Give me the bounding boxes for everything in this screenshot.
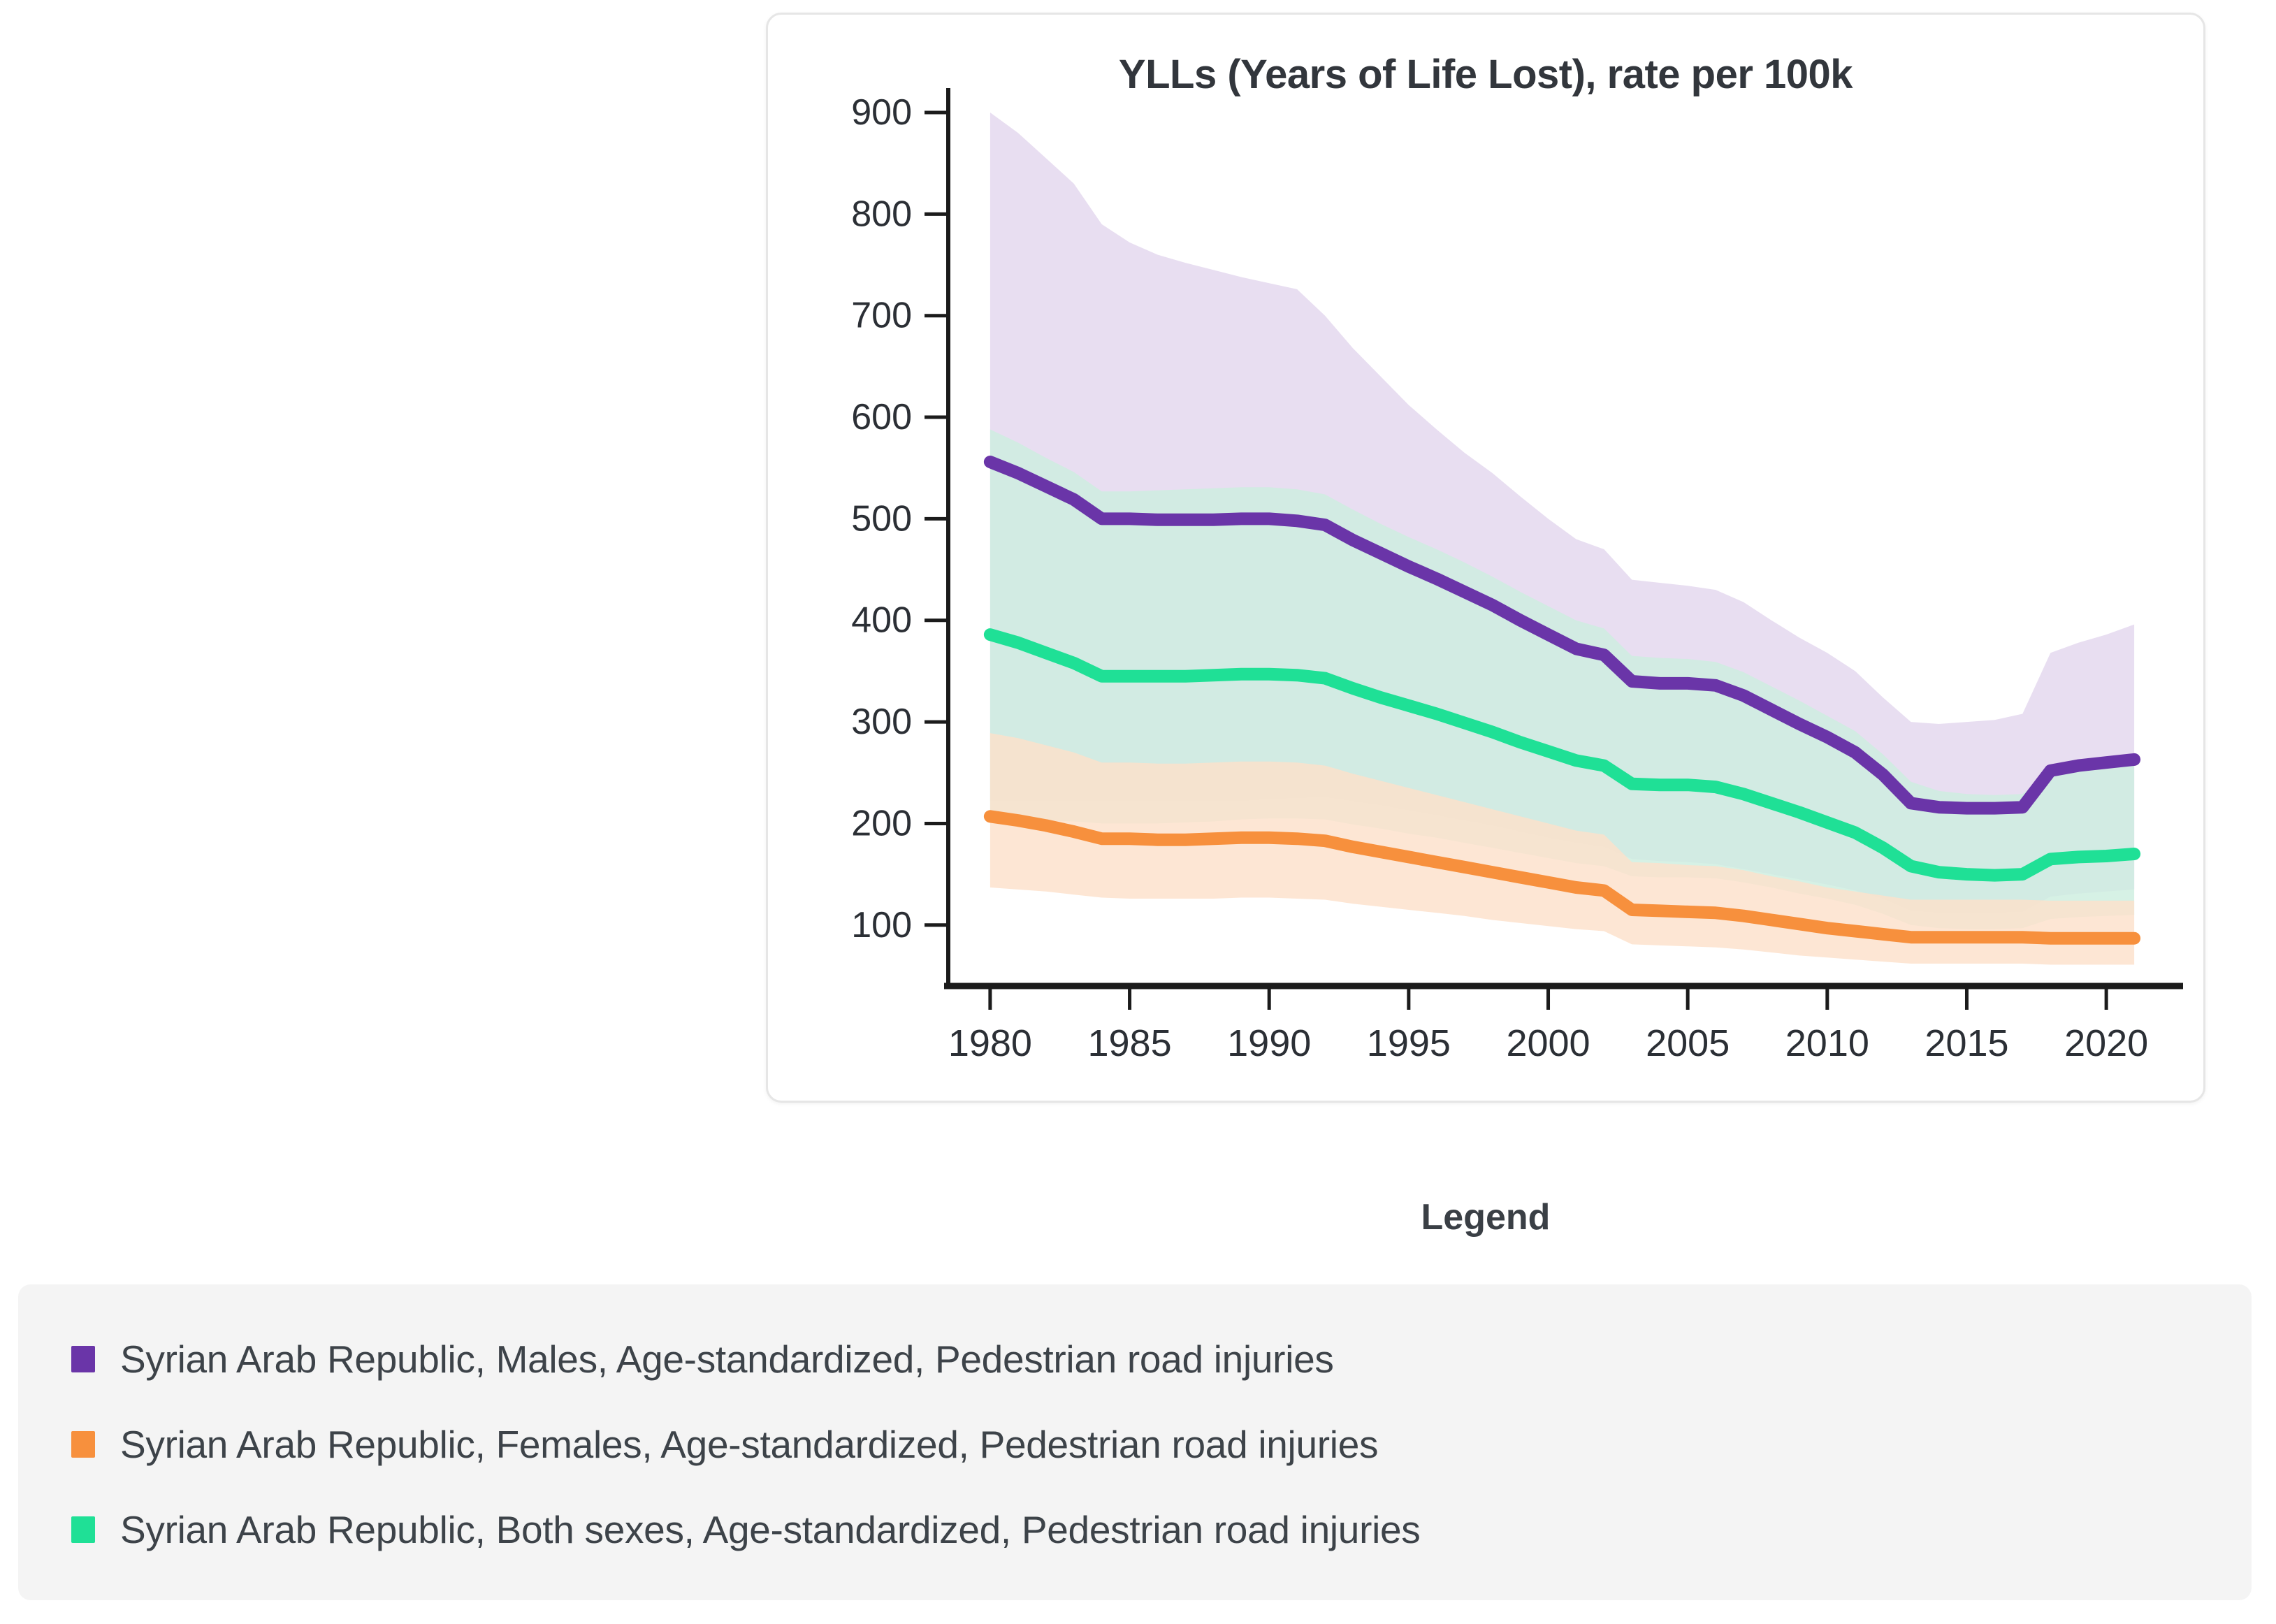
legend-swatch-males-icon: [71, 1346, 95, 1372]
line-chart-svg: 1002003004005006007008009001980198519901…: [768, 15, 2208, 1105]
svg-text:1990: 1990: [1227, 1022, 1311, 1064]
svg-text:500: 500: [851, 498, 912, 539]
legend-label-males: Syrian Arab Republic, Males, Age-standar…: [120, 1337, 1334, 1382]
svg-text:1980: 1980: [948, 1022, 1032, 1064]
legend-item-both-sexes[interactable]: Syrian Arab Republic, Both sexes, Age-st…: [18, 1487, 2252, 1572]
legend-panel: Syrian Arab Republic, Males, Age-standar…: [18, 1284, 2252, 1600]
svg-text:400: 400: [851, 600, 912, 641]
svg-text:2015: 2015: [1925, 1022, 2008, 1064]
legend-item-males[interactable]: Syrian Arab Republic, Males, Age-standar…: [18, 1317, 2252, 1402]
svg-text:200: 200: [851, 803, 912, 843]
svg-text:2005: 2005: [1646, 1022, 1730, 1064]
svg-text:2020: 2020: [2064, 1022, 2148, 1064]
svg-text:700: 700: [851, 296, 912, 336]
legend-label-both-sexes: Syrian Arab Republic, Both sexes, Age-st…: [120, 1507, 1421, 1552]
svg-text:900: 900: [851, 92, 912, 133]
svg-text:300: 300: [851, 702, 912, 742]
legend-item-females[interactable]: Syrian Arab Republic, Females, Age-stand…: [18, 1402, 2252, 1487]
svg-text:2000: 2000: [1506, 1022, 1590, 1064]
svg-text:600: 600: [851, 397, 912, 437]
svg-text:100: 100: [851, 905, 912, 945]
svg-text:1995: 1995: [1367, 1022, 1451, 1064]
legend-swatch-both-icon: [71, 1516, 95, 1543]
svg-text:800: 800: [851, 194, 912, 234]
svg-text:2010: 2010: [1785, 1022, 1869, 1064]
legend-heading: Legend: [766, 1196, 2205, 1238]
svg-text:1985: 1985: [1087, 1022, 1171, 1064]
legend-swatch-females-icon: [71, 1431, 95, 1458]
plot-area: 1002003004005006007008009001980198519901…: [768, 15, 2203, 1101]
chart-card: YLLs (Years of Life Lost), rate per 100k…: [766, 13, 2205, 1103]
legend-label-females: Syrian Arab Republic, Females, Age-stand…: [120, 1422, 1378, 1467]
